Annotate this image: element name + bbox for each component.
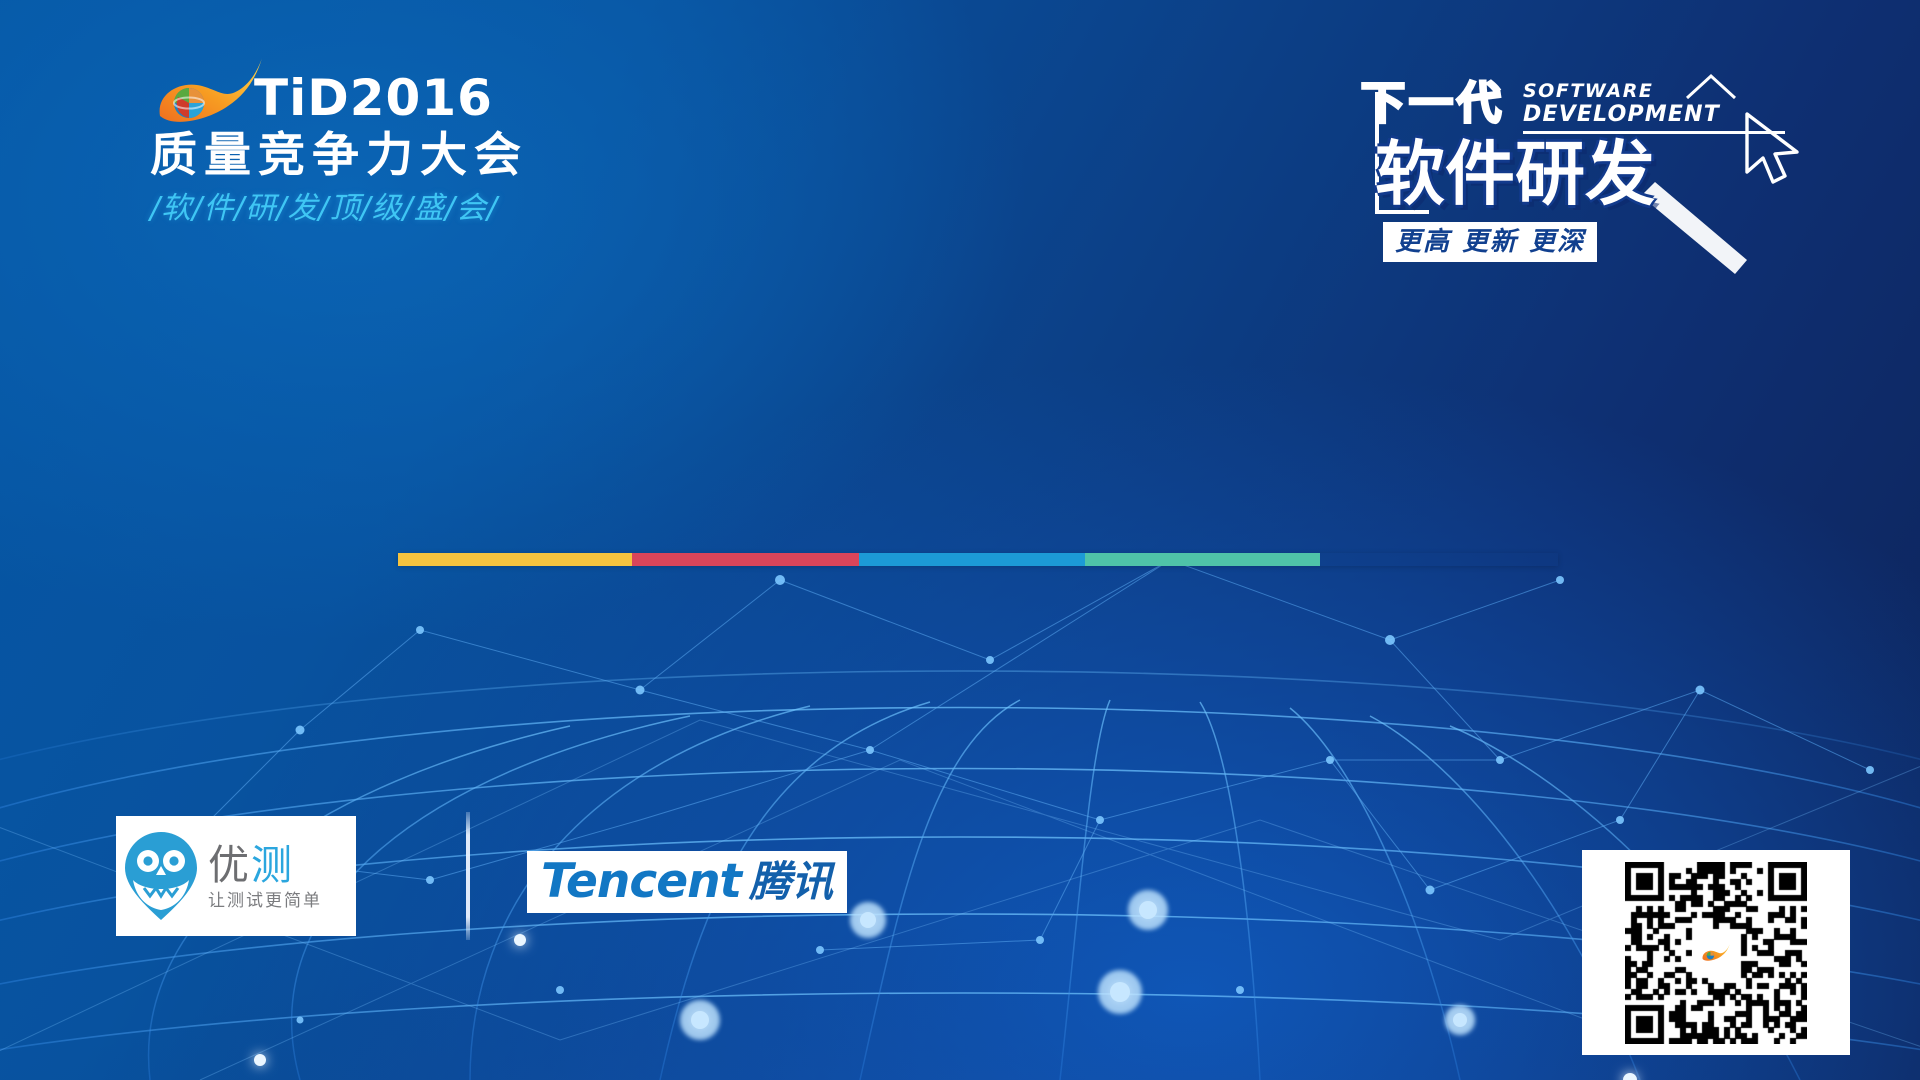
color-segment-yellow [398,553,632,566]
tid-brand-logo: TiD2016 质量竞争力大会 /软/件/研/发/顶/级/盛/会/ [150,62,710,229]
tencent-english: Tencent [541,857,741,907]
utest-slogan: 让测试更简单 [208,889,322,913]
utest-sponsor-logo: 优测 让测试更简单 [116,816,356,936]
owl-pin-icon [122,830,200,922]
qr-code-card [1582,850,1850,1055]
qr-center-flame-icon [1694,936,1738,970]
qr-code [1625,862,1807,1044]
sd-main-text: 软件研发 [1375,134,1655,214]
sd-sub-text: 更高 更新 更深 [1383,222,1597,262]
tencent-chinese: 腾讯 [749,858,833,906]
tencent-sponsor-logo: Tencent 腾讯 [527,851,847,913]
tid-chinese-title: 质量竞争力大会 [150,128,710,184]
utest-name: 优测 [208,842,322,888]
color-segment-teal [1085,553,1320,566]
mouse-pointer-icon [1741,110,1813,193]
utest-text-block: 优测 让测试更简单 [208,842,322,913]
tid-title: TiD2016 [254,72,493,124]
utest-name-right: 测 [251,841,294,889]
color-accent-bar [398,553,1558,566]
utest-name-left: 优 [208,841,251,889]
flame-globe-icon [150,62,260,124]
conference-slide: TiD2016 质量竞争力大会 /软/件/研/发/顶/级/盛/会/ 下一代 SO… [0,0,1920,1080]
sd-english-line1: SOFTWARE [1523,80,1788,103]
sd-next-gen-text: 下一代 [1361,78,1505,130]
vertical-divider [466,812,470,940]
tid-tagline: /软/件/研/发/顶/级/盛/会/ [150,189,710,229]
color-segment-blue [859,553,1085,566]
software-development-logo: 下一代 SOFTWARE DEVELOPMENT 软件研发 更高 更新 更深 [1355,62,1805,277]
color-segment-red [632,553,858,566]
